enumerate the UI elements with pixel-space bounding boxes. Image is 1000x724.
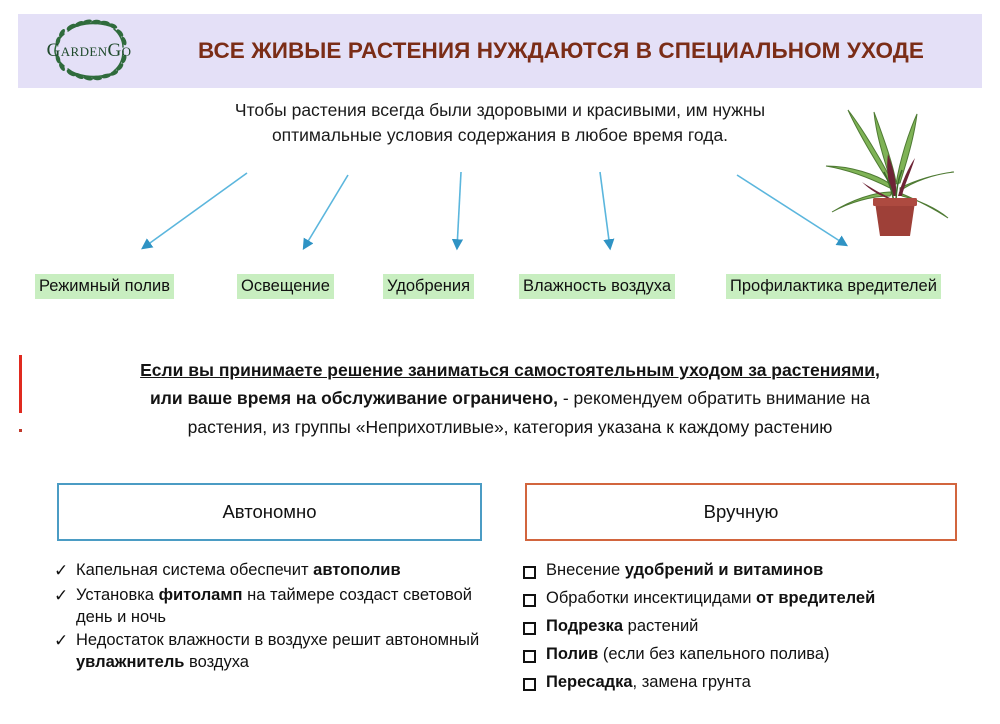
text-post: (если без капельного полива) bbox=[598, 645, 829, 663]
brand-name: GardenGo bbox=[47, 40, 132, 62]
tag-humidity[interactable]: Влажность воздуха bbox=[519, 274, 675, 299]
text-bold: удобрений и витаминов bbox=[625, 561, 823, 579]
text-post: воздуха bbox=[184, 653, 248, 671]
text-bold: автополив bbox=[313, 561, 400, 579]
list-item-text: Капельная система обеспечит автополив bbox=[76, 560, 505, 582]
text-pre: Капельная система обеспечит bbox=[76, 561, 313, 579]
text-pre: Обработки инсектицидами bbox=[546, 589, 756, 607]
list-item[interactable]: Внесение удобрений и витаминов bbox=[520, 560, 985, 586]
list-item-text: Внесение удобрений и витаминов bbox=[546, 560, 985, 582]
text-pre: Установка bbox=[76, 586, 159, 604]
list-item-text: Пересадка, замена грунта bbox=[546, 672, 985, 694]
text-bold: увлажнитель bbox=[76, 653, 184, 671]
check-mark-icon: ✓ bbox=[50, 630, 76, 653]
box-autonomous[interactable]: Автономно bbox=[57, 483, 482, 541]
connector-arrows bbox=[0, 150, 1000, 280]
check-mark-icon: ✓ bbox=[50, 585, 76, 608]
text-bold: Подрезка bbox=[546, 617, 623, 635]
text-post: , замена грунта bbox=[633, 673, 751, 691]
tag-fertilizer[interactable]: Удобрения bbox=[383, 274, 474, 299]
slide-root: GardenGo ВСЕ ЖИВЫЕ РАСТЕНИЯ НУЖДАЮТСЯ В … bbox=[0, 0, 1000, 724]
list-item-text: Установка фитоламп на таймере создаст св… bbox=[76, 585, 505, 629]
list-item-text: Недостаток влажности в воздухе решит авт… bbox=[76, 630, 505, 674]
box-manual-label: Вручную bbox=[704, 501, 779, 523]
box-manual[interactable]: Вручную bbox=[525, 483, 957, 541]
care-tag-list: Режимный полив Освещение Удобрения Влажн… bbox=[0, 274, 1000, 300]
intro-line-1: Чтобы растения всегда были здоровыми и к… bbox=[150, 98, 850, 123]
checkbox-icon[interactable] bbox=[520, 588, 546, 614]
list-item[interactable]: Подрезка растений bbox=[520, 616, 985, 642]
accent-bar bbox=[19, 355, 22, 413]
note-rest-2: растения, из группы «Неприхотливые», кат… bbox=[188, 417, 833, 437]
list-item[interactable]: Пересадка, замена грунта bbox=[520, 672, 985, 698]
text-bold: Пересадка bbox=[546, 673, 633, 691]
note-rest-1: - рекомендуем обратить внимание на bbox=[558, 388, 870, 408]
list-item-text: Подрезка растений bbox=[546, 616, 985, 638]
brand-logo: GardenGo bbox=[18, 14, 158, 88]
list-item[interactable]: ✓ Капельная система обеспечит автополив bbox=[50, 560, 505, 583]
header-bar: GardenGo ВСЕ ЖИВЫЕ РАСТЕНИЯ НУЖДАЮТСЯ В … bbox=[18, 14, 982, 88]
list-item[interactable]: ✓ Недостаток влажности в воздухе решит а… bbox=[50, 630, 505, 674]
arrow-4 bbox=[600, 172, 610, 248]
text-bold: фитоламп bbox=[159, 586, 243, 604]
text-bold: от вредителей bbox=[756, 589, 875, 607]
box-autonomous-label: Автономно bbox=[222, 501, 316, 523]
arrow-3 bbox=[457, 172, 461, 248]
arrow-5 bbox=[737, 175, 846, 245]
text-pre: Недостаток влажности в воздухе решит авт… bbox=[76, 631, 479, 649]
intro-text: Чтобы растения всегда были здоровыми и к… bbox=[150, 98, 850, 149]
recommendation-note: Если вы принимаете решение заниматься са… bbox=[60, 356, 960, 441]
check-mark-icon: ✓ bbox=[50, 560, 76, 583]
list-autonomous: ✓ Капельная система обеспечит автополив … bbox=[50, 560, 505, 676]
text-bold: Полив bbox=[546, 645, 598, 663]
checkbox-icon[interactable] bbox=[520, 644, 546, 670]
list-item[interactable]: Полив (если без капельного полива) bbox=[520, 644, 985, 670]
arrow-1 bbox=[143, 173, 247, 248]
page-title: ВСЕ ЖИВЫЕ РАСТЕНИЯ НУЖДАЮТСЯ В СПЕЦИАЛЬН… bbox=[158, 38, 982, 64]
note-bold-underline: Если вы принимаете решение заниматься са… bbox=[140, 360, 880, 380]
checkbox-icon[interactable] bbox=[520, 560, 546, 586]
list-item[interactable]: ✓ Установка фитоламп на таймере создаст … bbox=[50, 585, 505, 629]
intro-line-2: оптимальные условия содержания в любое в… bbox=[150, 123, 850, 148]
list-item-text: Обработки инсектицидами от вредителей bbox=[546, 588, 985, 610]
tag-pest-control[interactable]: Профилактика вредителей bbox=[726, 274, 941, 299]
checkbox-icon[interactable] bbox=[520, 672, 546, 698]
list-manual: Внесение удобрений и витаминов Обработки… bbox=[520, 560, 985, 700]
arrow-2 bbox=[304, 175, 348, 248]
text-post: растений bbox=[623, 617, 698, 635]
list-item-text: Полив (если без капельного полива) bbox=[546, 644, 985, 666]
text-pre: Внесение bbox=[546, 561, 625, 579]
list-item[interactable]: Обработки инсектицидами от вредителей bbox=[520, 588, 985, 614]
checkbox-icon[interactable] bbox=[520, 616, 546, 642]
tag-watering[interactable]: Режимный полив bbox=[35, 274, 174, 299]
note-bold: или ваше время на обслуживание ограничен… bbox=[150, 388, 558, 408]
tag-lighting[interactable]: Освещение bbox=[237, 274, 334, 299]
accent-dot bbox=[19, 429, 22, 432]
